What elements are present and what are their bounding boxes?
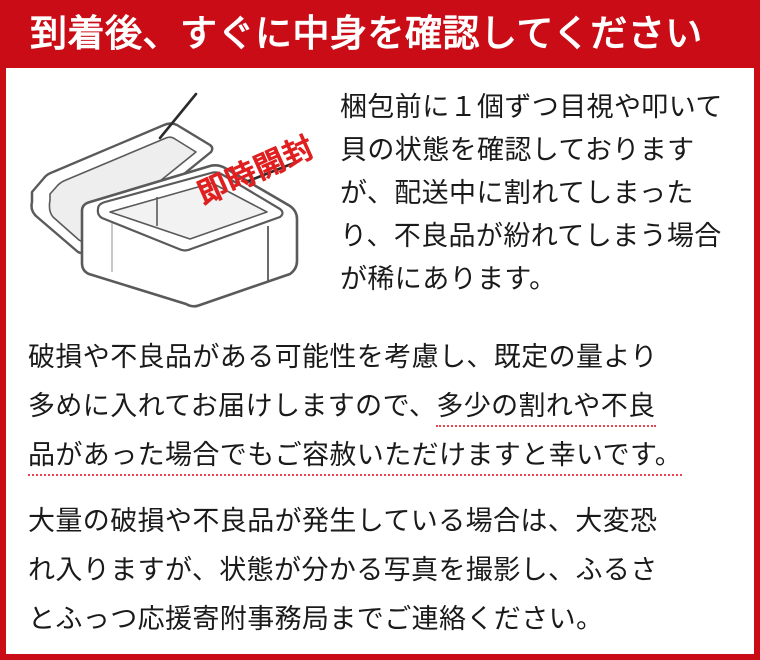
cooler-box-illustration: 即時開封: [14, 76, 334, 316]
allowance-line-2-plain: 多めに入れてお届けしますので、: [28, 391, 436, 422]
intro-section: 即時開封 梱包前に１個ずつ目視や叩いて貝の状態を確認しておりますが、配送中に割れ…: [6, 68, 754, 318]
allowance-line-3: 品があった場合でもご容赦いただけますと幸いです。: [28, 431, 742, 480]
contact-line-3: とふっつ応援寄附事務局までご連絡ください。: [28, 595, 742, 644]
page-title: 到着後、すぐに中身を確認してください: [30, 8, 703, 60]
contact-line-2: れ入りますが、状態が分かる写真を撮影し、ふるさ: [28, 546, 742, 595]
header-banner: 到着後、すぐに中身を確認してください: [0, 0, 760, 68]
notice-panel: 到着後、すぐに中身を確認してください: [0, 0, 760, 660]
frame-border-right: [754, 68, 760, 660]
allowance-paragraph: 破損や不良品がある可能性を考慮し、既定の量より 多めに入れてお届けしますので、多…: [28, 333, 742, 480]
allowance-line-1: 破損や不良品がある可能性を考慮し、既定の量より: [28, 333, 742, 382]
frame-border-bottom: [0, 654, 760, 660]
allowance-line-3-underlined: 品があった場合でもご容赦いただけますと幸いです。: [28, 440, 682, 476]
allowance-line-2-underlined: 多少の割れや不良: [436, 391, 655, 427]
contact-line-1: 大量の破損や不良品が発生している場合は、大変恐: [28, 497, 742, 546]
styrofoam-cooler-box-icon: [14, 76, 334, 316]
contact-paragraph: 大量の破損や不良品が発生している場合は、大変恐 れ入りますが、状態が分かる写真を…: [28, 497, 742, 644]
intro-paragraph: 梱包前に１個ずつ目視や叩いて貝の状態を確認しておりますが、配送中に割れてしまった…: [340, 86, 744, 301]
allowance-line-1-text: 破損や不良品がある可能性を考慮し、既定の量より: [28, 342, 658, 373]
allowance-line-2: 多めに入れてお届けしますので、多少の割れや不良: [28, 382, 742, 431]
